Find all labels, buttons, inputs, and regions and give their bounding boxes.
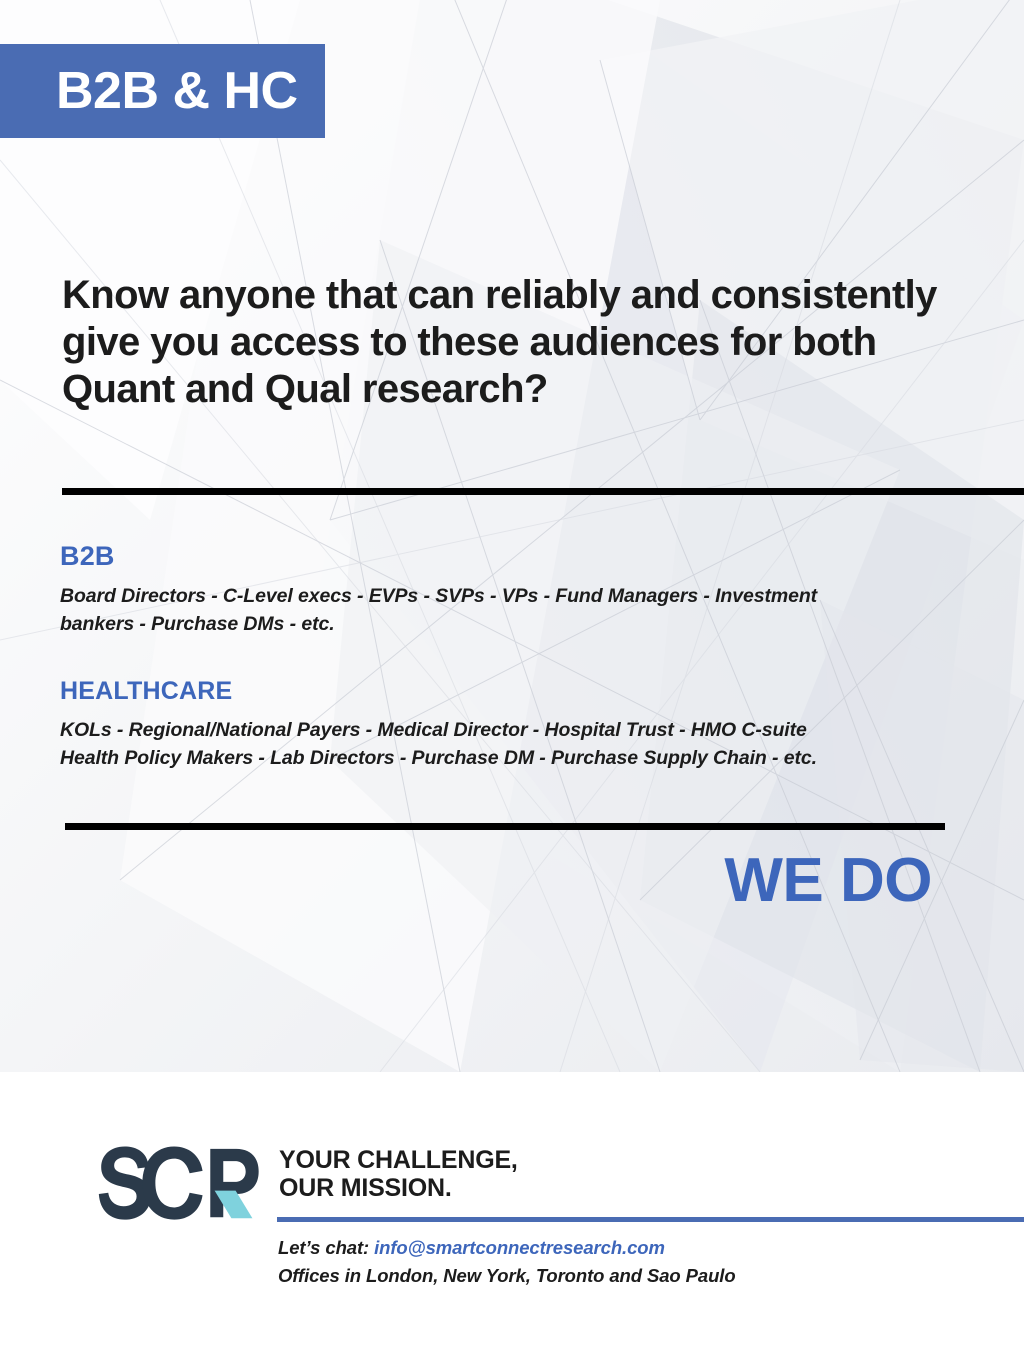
poster-page: B2B & HC Know anyone that can reliably a… bbox=[0, 0, 1024, 1351]
audience-list-healthcare-line2: Health Policy Makers - Lab Directors - P… bbox=[60, 745, 960, 773]
category-badge: B2B & HC bbox=[0, 44, 325, 138]
audience-list-b2b-line1: Board Directors - C-Level execs - EVPs -… bbox=[60, 583, 960, 611]
divider-top bbox=[62, 488, 1024, 495]
brand-tagline: YOUR CHALLENGE, OUR MISSION. bbox=[279, 1138, 518, 1202]
contact-prefix-label: Let’s chat: bbox=[278, 1237, 374, 1258]
audience-block-b2b: B2B Board Directors - C-Level execs - EV… bbox=[60, 543, 960, 638]
page-headline: Know anyone that can reliably and consis… bbox=[62, 272, 972, 412]
divider-bottom bbox=[65, 823, 945, 830]
audience-block-healthcare: HEALTHCARE KOLs - Regional/National Paye… bbox=[60, 679, 960, 772]
category-badge-label: B2B & HC bbox=[0, 65, 298, 117]
audience-list-healthcare: KOLs - Regional/National Payers - Medica… bbox=[60, 717, 960, 772]
answer-we-do: WE DO bbox=[0, 850, 932, 912]
audience-list-b2b: Board Directors - C-Level execs - EVPs -… bbox=[60, 583, 960, 638]
footer-divider bbox=[277, 1217, 1024, 1222]
audience-list-b2b-line2: bankers - Purchase DMs - etc. bbox=[60, 611, 960, 639]
audience-title-healthcare: HEALTHCARE bbox=[60, 679, 960, 704]
brand-tagline-line2: OUR MISSION. bbox=[279, 1174, 518, 1202]
audience-list-healthcare-line1: KOLs - Regional/National Payers - Medica… bbox=[60, 717, 960, 745]
footer: YOUR CHALLENGE, OUR MISSION. Let’s chat:… bbox=[0, 1072, 1024, 1351]
brand-tagline-line1: YOUR CHALLENGE, bbox=[279, 1146, 518, 1174]
scr-logo-icon bbox=[97, 1138, 267, 1224]
audience-title-b2b: B2B bbox=[60, 543, 960, 570]
brand-lockup: YOUR CHALLENGE, OUR MISSION. bbox=[97, 1138, 518, 1224]
contact-email-line: Let’s chat: info@smartconnectresearch.co… bbox=[278, 1234, 736, 1262]
contact-block: Let’s chat: info@smartconnectresearch.co… bbox=[278, 1234, 736, 1290]
offices-line: Offices in London, New York, Toronto and… bbox=[278, 1262, 736, 1290]
contact-email-link[interactable]: info@smartconnectresearch.com bbox=[374, 1237, 665, 1258]
